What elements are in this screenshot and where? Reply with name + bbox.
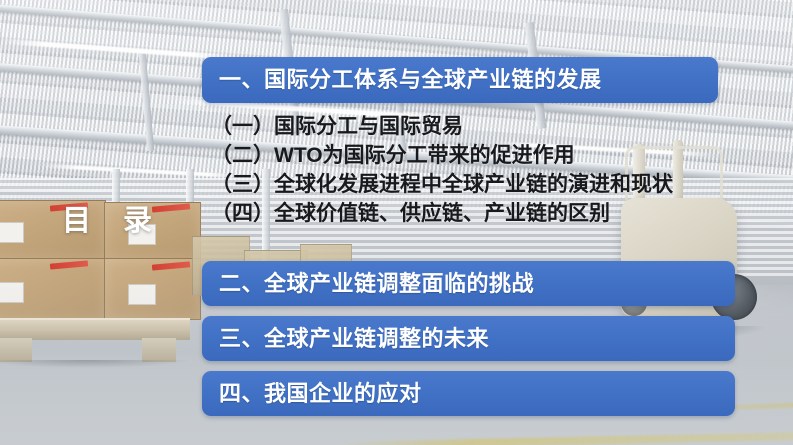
section-bar-4[interactable]: 四、我国企业的应对 xyxy=(202,371,735,416)
presentation-slide: 目 录 一、国际分工体系与全球产业链的发展 （一）国际分工与国际贸易 （二）WT… xyxy=(0,0,793,445)
subitem-1[interactable]: （一）国际分工与国际贸易 xyxy=(211,112,711,141)
section-bar-3[interactable]: 三、全球产业链调整的未来 xyxy=(202,316,735,361)
section-title-1: 一、国际分工体系与全球产业链的发展 xyxy=(202,69,602,91)
slide-content: 目 录 一、国际分工体系与全球产业链的发展 （一）国际分工与国际贸易 （二）WT… xyxy=(0,0,793,445)
section-1-subitem-list: （一）国际分工与国际贸易 （二）WTO为国际分工带来的促进作用 （三）全球化发展… xyxy=(211,112,711,228)
section-title-2: 二、全球产业链调整面临的挑战 xyxy=(202,273,534,295)
subitem-2[interactable]: （二）WTO为国际分工带来的促进作用 xyxy=(211,141,711,170)
section-title-3: 三、全球产业链调整的未来 xyxy=(202,328,489,350)
section-bar-2[interactable]: 二、全球产业链调整面临的挑战 xyxy=(202,261,735,306)
table-of-contents-label: 目 录 xyxy=(62,207,164,236)
section-title-4: 四、我国企业的应对 xyxy=(202,383,422,405)
section-bar-1[interactable]: 一、国际分工体系与全球产业链的发展 xyxy=(202,57,718,103)
subitem-4[interactable]: （四）全球价值链、供应链、产业链的区别 xyxy=(211,199,711,228)
subitem-3[interactable]: （三）全球化发展进程中全球产业链的演进和现状 xyxy=(211,170,711,199)
